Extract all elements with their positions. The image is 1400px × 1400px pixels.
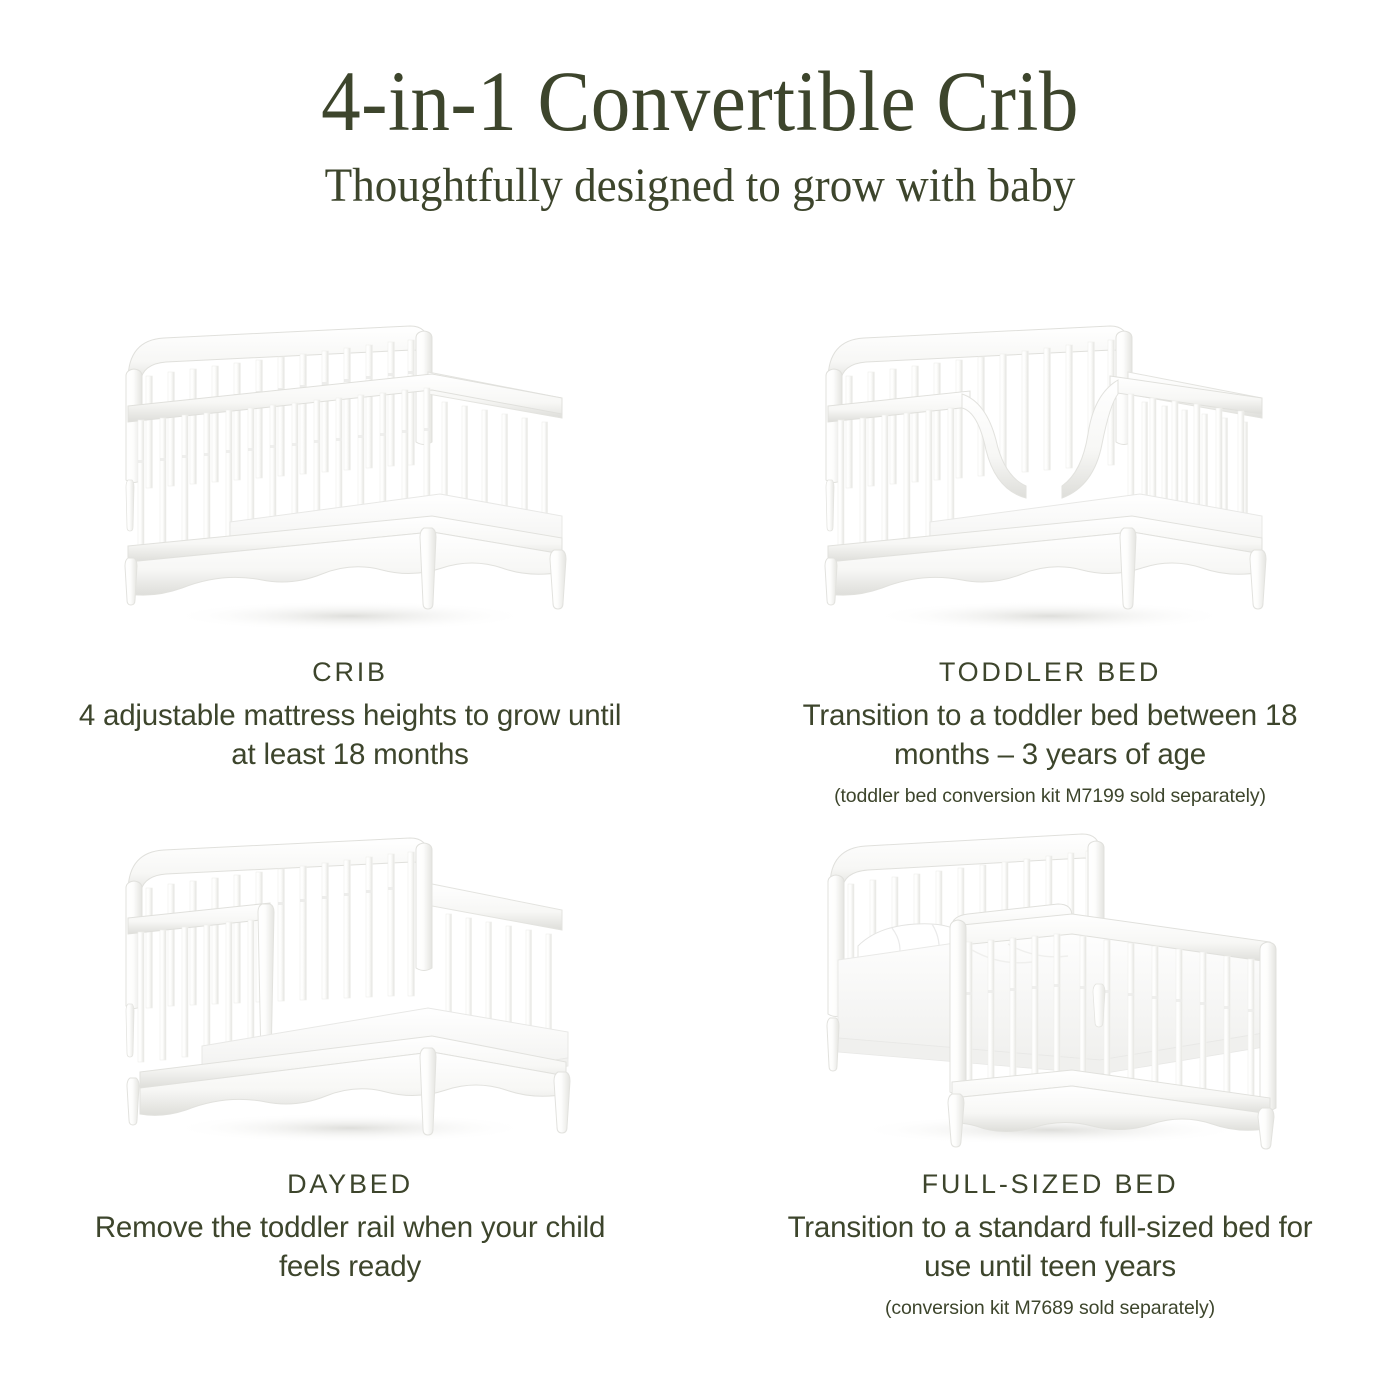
mode-note: (toddler bed conversion kit M7199 sold s… — [770, 784, 1330, 809]
page-title: 4-in-1 Convertible Crib — [56, 58, 1344, 146]
mode-title: DAYBED — [70, 1168, 630, 1200]
infographic-page: 4-in-1 Convertible Crib Thoughtfully des… — [0, 0, 1400, 1400]
spindle-toddler-bed-illustration — [700, 300, 1400, 640]
caption-full-sized-bed: FULL-SIZED BED Transition to a standard … — [770, 1168, 1330, 1322]
mode-note: (conversion kit M7689 sold separately) — [770, 1296, 1330, 1321]
caption-toddler-bed: TODDLER BED Transition to a toddler bed … — [770, 656, 1330, 810]
header: 4-in-1 Convertible Crib Thoughtfully des… — [0, 58, 1400, 213]
mode-card-toddler-bed: TODDLER BED Transition to a toddler bed … — [700, 300, 1400, 812]
mode-description: 4 adjustable mattress heights to grow un… — [70, 697, 630, 775]
caption-crib: CRIB 4 adjustable mattress heights to gr… — [70, 656, 630, 775]
mode-title: FULL-SIZED BED — [770, 1168, 1330, 1200]
mode-title: TODDLER BED — [770, 656, 1330, 688]
mode-description: Transition to a toddler bed between 18 m… — [770, 697, 1330, 775]
spindle-crib-illustration — [0, 300, 700, 640]
mode-description: Transition to a standard full-sized bed … — [770, 1209, 1330, 1287]
mode-card-daybed: DAYBED Remove the toddler rail when your… — [0, 812, 700, 1324]
mode-card-full-sized-bed: FULL-SIZED BED Transition to a standard … — [700, 812, 1400, 1324]
mode-card-crib: CRIB 4 adjustable mattress heights to gr… — [0, 300, 700, 812]
page-subtitle: Thoughtfully designed to grow with baby — [42, 160, 1358, 213]
mode-description: Remove the toddler rail when your child … — [70, 1209, 630, 1287]
mode-title: CRIB — [70, 656, 630, 688]
conversion-modes-grid: CRIB 4 adjustable mattress heights to gr… — [0, 300, 1400, 1324]
spindle-daybed-illustration — [0, 812, 700, 1152]
spindle-full-bed-illustration — [700, 812, 1400, 1152]
caption-daybed: DAYBED Remove the toddler rail when your… — [70, 1168, 630, 1287]
